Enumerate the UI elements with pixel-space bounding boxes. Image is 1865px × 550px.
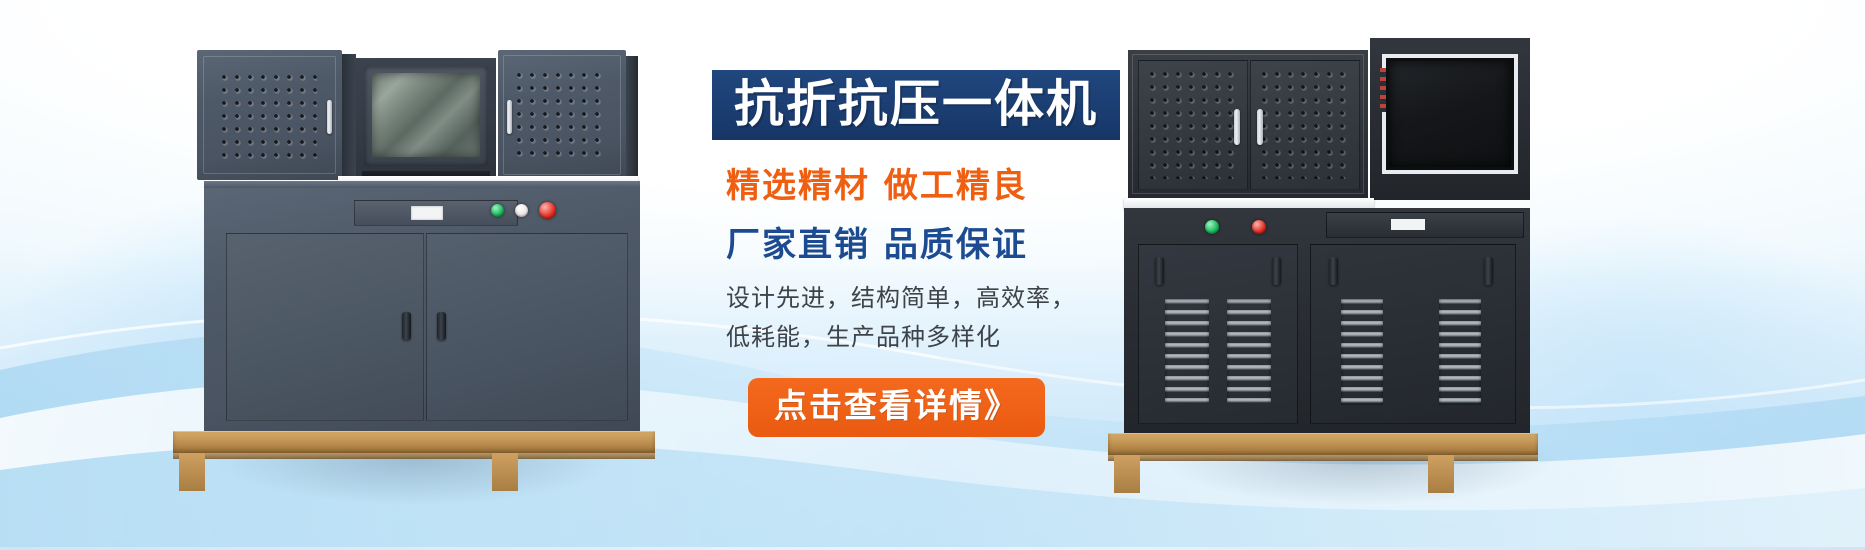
right-machine-handle-lower-left-b [1272, 257, 1281, 285]
left-machine-drawer-label [411, 206, 443, 220]
title-band: 抗折抗压一体机 [712, 70, 1120, 140]
page-title: 抗折抗压一体机 [734, 79, 1098, 129]
left-machine-body [204, 181, 640, 431]
left-machine-power-indicator[interactable] [491, 204, 504, 217]
description-line-2: 低耗能，生产品种多样化 [726, 319, 1220, 356]
right-machine-pallet-leg-left [1114, 455, 1140, 493]
view-details-button-label: 点击查看详情》 [774, 386, 1019, 425]
description-line-1: 设计先进，结构简单，高效率， [726, 280, 1220, 317]
left-machine-monitor-screen [372, 73, 480, 157]
left-machine-lower-door-right [426, 233, 628, 421]
right-machine-perforated-door-right [1250, 60, 1360, 190]
left-machine-handle-top-right [507, 100, 512, 134]
right-machine-pallet-beam-shadow [1108, 455, 1538, 461]
left-machine-body-top-lip [204, 181, 640, 188]
left-machine-door-left-edge [342, 54, 356, 180]
right-machine-handle-lower-right-a [1329, 257, 1338, 285]
product-banner: 抗折抗压一体机 精选精材 做工精良 厂家直销 品质保证 设计先进，结构简单，高效… [0, 0, 1865, 550]
left-machine-pallet-beam [173, 431, 655, 453]
right-machine-louver-vent-right-b [1439, 299, 1481, 405]
slogan-blue: 厂家直销 品质保证 [726, 217, 1220, 266]
left-machine-handle-top-left [327, 100, 332, 134]
slogan-orange: 精选精材 做工精良 [726, 158, 1220, 207]
right-machine-handle-upper-left [1234, 109, 1240, 145]
right-machine-monitor-side-buttons[interactable] [1380, 68, 1386, 112]
right-machine-louver-vent-right-a [1341, 299, 1383, 405]
left-machine [195, 48, 655, 448]
left-machine-pallet-leg-left [179, 453, 205, 491]
left-machine-monitor-bezel [364, 66, 488, 166]
right-machine-monitor-screen [1389, 61, 1511, 167]
right-machine-louver-door-right [1310, 244, 1516, 424]
left-machine-pallet-leg-right [492, 453, 518, 491]
left-machine-monitor-housing [356, 58, 496, 183]
right-machine-pallet-leg-right [1428, 455, 1454, 493]
left-machine-handle-lower-right [437, 312, 446, 340]
right-machine-stop-indicator[interactable] [1252, 220, 1266, 234]
right-machine-monitor-bezel [1382, 54, 1518, 174]
left-machine-perforated-door-left [197, 50, 342, 180]
copy-block: 抗折抗压一体机 精选精材 做工精良 厂家直销 品质保证 设计先进，结构简单，高效… [700, 70, 1220, 437]
right-machine-louver-vent-left-b [1227, 299, 1271, 403]
left-machine-perforated-door-right [498, 50, 626, 180]
left-machine-perforation-pattern-right [516, 72, 608, 160]
left-machine-door-right-edge [626, 56, 638, 180]
left-machine-pallet-beam-shadow [173, 453, 655, 459]
left-machine-lower-door-left [226, 233, 424, 421]
right-machine-monitor-housing [1370, 38, 1530, 200]
left-machine-status-indicator[interactable] [515, 204, 528, 217]
view-details-button[interactable]: 点击查看详情》 [748, 378, 1045, 436]
left-machine-handle-lower-left [402, 312, 411, 340]
left-machine-stop-indicator[interactable] [539, 202, 556, 219]
right-machine-drawer-label [1391, 219, 1425, 230]
left-machine-perforation-pattern-left [221, 74, 317, 160]
right-machine-control-drawer [1326, 212, 1524, 238]
right-machine-handle-upper-right [1257, 109, 1263, 145]
right-machine-handle-lower-right-b [1484, 257, 1493, 285]
right-machine-perforation-pattern-right [1261, 71, 1349, 179]
